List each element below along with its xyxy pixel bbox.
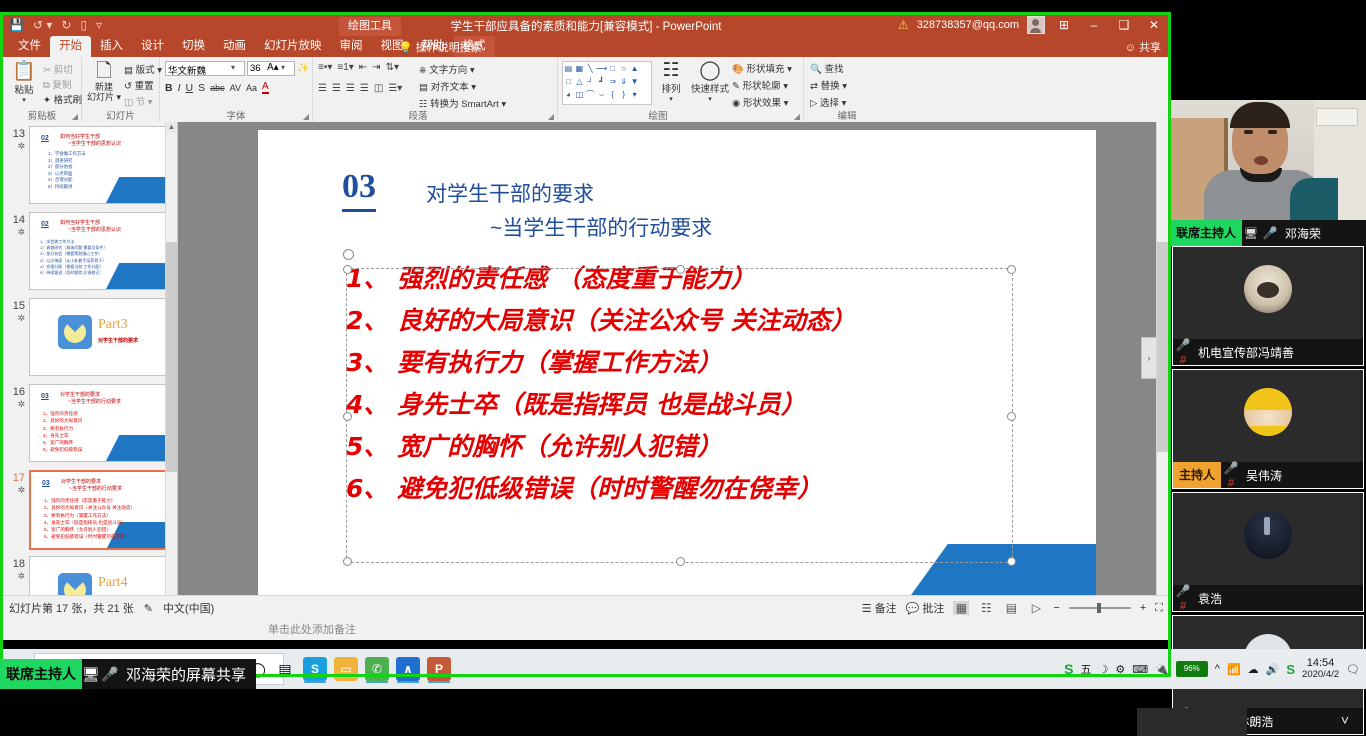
thumb-part-subtitle: 对学生干部的要求 xyxy=(98,337,138,344)
tab-animations[interactable]: 动画 xyxy=(214,36,255,57)
powerpoint-icon[interactable]: P xyxy=(424,655,454,683)
thumb-title-2: ~当学生干部的思想认识 xyxy=(68,226,121,233)
overlay-text: 邓海荣的屏幕共享 xyxy=(120,664,256,685)
thumbnail-number: 15✲ xyxy=(3,298,29,376)
shape-brace-right-icon[interactable]: } xyxy=(622,90,625,99)
align-right-button[interactable]: ☰ xyxy=(346,83,355,94)
mic-icon: 🎤 xyxy=(100,666,120,683)
slide-heading-number: 03 xyxy=(342,168,376,212)
group-slides: 🗋 新建幻灯片 ▾ ▤ 版式 ▾ ↺ 重置 ◫ 节 ▾ 幻灯片 xyxy=(82,57,160,122)
thumbnail-number: 14✲ xyxy=(3,212,29,290)
increase-font-size-button[interactable]: A▴ xyxy=(267,62,279,73)
tab-home[interactable]: 开始 xyxy=(50,36,91,57)
title-bar-right: ⚠ 328738357@qq.com ⊞ – ❑ ✕ xyxy=(898,16,1165,34)
shapes-scroll-down-icon[interactable]: ▼ xyxy=(631,77,639,86)
decor-corner xyxy=(106,263,166,289)
shape-outline-button[interactable]: ✎ 形状轮廓 ▾ xyxy=(732,78,788,92)
decrease-indent-button[interactable]: ⇤ xyxy=(359,62,367,73)
thumb-part-label: Part4 xyxy=(98,575,128,591)
shape-triangle-icon[interactable]: △ xyxy=(576,77,582,86)
group-title-editing: 编辑 xyxy=(804,108,890,122)
slide-editor-pane: 03 对学生干部的要求 ~当学生干部的行动要求 1、 强烈的责任感 （态度重于能… xyxy=(178,122,1169,618)
underline-button[interactable]: U xyxy=(186,82,194,94)
group-title-font: 字体 xyxy=(160,108,312,122)
copy-button[interactable]: ⧉ 复制 xyxy=(43,77,71,91)
clear-formatting-icon[interactable]: ✨ xyxy=(297,63,309,74)
justify-button[interactable]: ☰ xyxy=(360,83,369,94)
thumbnail-slide-canvas[interactable]: 02 如何当好学生干部 ~当学生干部的思想认识 1、学会做工作方法1）调查研究 … xyxy=(29,126,167,204)
spell-check-icon[interactable]: ✎ xyxy=(144,602,153,615)
status-bar: 幻灯片第 17 张，共 21 张 ✎ 中文(中国) ☰ 备注 💬 批注 ▦ ☷ … xyxy=(3,595,1169,618)
chevron-down-icon[interactable]: ▾ xyxy=(7,96,41,104)
participant-video-feed xyxy=(1173,493,1363,585)
decor-corner xyxy=(106,435,166,461)
thumb-title-1: 对学生干部的要求 xyxy=(60,391,100,398)
thumb-heading-num: 03 xyxy=(41,393,49,400)
thumb-heading-num: 03 xyxy=(42,480,50,487)
tray-expand-icon[interactable]: ^ xyxy=(1215,663,1220,675)
system-tray: S 五 ☽ ⚙ ⌨ 🔌 96% ^ 📶 ☁ 🔊 S 14:54 2020/4/2… xyxy=(1064,649,1360,689)
slide-title-line2: ~当学生干部的行动要求 xyxy=(490,212,712,242)
share-person-icon: ☺ xyxy=(1125,42,1136,54)
participant-label-row: 🎤⧥ 袁浩 xyxy=(1173,585,1363,611)
shape-arrow-icon[interactable]: ⟶ xyxy=(596,64,607,73)
align-left-button[interactable]: ☰ xyxy=(318,83,327,94)
wifi-icon[interactable]: ☁ xyxy=(1248,663,1259,676)
pie-logo-icon xyxy=(58,315,92,349)
paste-label: 粘贴 xyxy=(14,85,33,96)
zoom-slider-knob[interactable] xyxy=(1097,603,1101,613)
close-button[interactable]: ✕ xyxy=(1143,18,1165,32)
mic-muted-icon[interactable]: 🎤⧥ xyxy=(1173,584,1193,613)
new-slide-icon: 🗋 xyxy=(86,61,122,82)
quick-styles-button[interactable]: ◯ 快速样式▾ xyxy=(690,60,730,103)
shape-rightarrow-icon[interactable]: ⇒ xyxy=(609,77,616,86)
shape-fill-button[interactable]: 🎨 形状填充 ▾ xyxy=(732,61,792,75)
scroll-up-arrow-icon[interactable]: ▲ xyxy=(166,122,177,133)
ribbon-tab-bar: 文件 开始 插入 设计 切换 动画 幻灯片放映 审阅 视图 帮助 格式 💡 操作… xyxy=(3,36,1169,57)
task-view-icon[interactable]: ▤ xyxy=(272,657,298,681)
slideshow-icon[interactable]: ▷ xyxy=(1028,601,1044,615)
slide-body-line: 6、 避免犯低级错误（时时警醒勿在侥幸） xyxy=(346,468,1018,510)
active-indicator xyxy=(366,681,388,683)
strikethrough-button[interactable]: abc xyxy=(210,83,225,93)
tab-file[interactable]: 文件 xyxy=(9,36,50,57)
font-name-value: 华文新魏 xyxy=(168,66,206,77)
shadow-button[interactable]: S xyxy=(198,82,205,94)
share-screen-icon: 🖥 xyxy=(82,666,100,683)
chevron-down-icon[interactable]: ˅ xyxy=(1341,712,1349,728)
thumbnail-slide-canvas-selected[interactable]: 03 对学生干部的要求 ~当学生干部的行动要求 1、强烈的责任感（态度重于能力）… xyxy=(29,470,169,550)
work-area: 13✲ 02 如何当好学生干部 ~当学生干部的思想认识 1、学会做工作方法1）调… xyxy=(3,122,1169,618)
numbering-button[interactable]: ≡1▾ xyxy=(337,62,353,73)
clipboard-icon: 📋 xyxy=(7,61,41,82)
avatar[interactable] xyxy=(1027,16,1045,34)
overlay-role-badge: 联席主持人 xyxy=(0,659,82,689)
arrange-button[interactable]: ☷ 排列▾ xyxy=(654,60,688,103)
clock[interactable]: 14:54 2020/4/2 xyxy=(1302,657,1339,681)
slide-body-line: 5、 宽广的胸怀（允许别人犯错） xyxy=(346,426,1018,468)
thumbnail-16[interactable]: 16✲ 03 对学生干部的要求 ~当学生干部的行动要求 1、强烈的责任感2、良好… xyxy=(3,384,177,462)
shape-square-icon[interactable]: □ xyxy=(566,77,571,86)
replace-button[interactable]: ⇄ 替换 ▾ xyxy=(810,78,847,92)
italic-button[interactable]: I xyxy=(178,82,181,94)
quick-styles-icon: ◯ xyxy=(690,60,730,81)
sogou-browser-icon[interactable]: S xyxy=(300,655,330,683)
active-indicator xyxy=(304,681,326,683)
shape-effects-button[interactable]: ◉ 形状效果 ▾ xyxy=(732,95,788,109)
participant-label-row: 🎤⧥ 机电宣传部冯靖善 xyxy=(1173,339,1363,365)
participant-name: 吴伟涛 xyxy=(1241,467,1282,484)
avatar xyxy=(1244,265,1292,313)
change-case-button[interactable]: Aa xyxy=(246,83,257,93)
font-name-chevron-icon[interactable]: ▾ xyxy=(231,63,235,72)
thumb-title-2: ~当学生干部的思想认识 xyxy=(68,140,121,147)
zoom-in-button[interactable]: + xyxy=(1140,602,1146,614)
participant-label-row: 主持人 🎤⧥ 吴伟涛 xyxy=(1173,462,1363,488)
shapes-scroll-up-icon[interactable]: ▲ xyxy=(631,64,639,73)
battery-indicator[interactable]: 96% xyxy=(1176,661,1208,677)
notification-icon[interactable]: 🗨 xyxy=(1346,663,1360,676)
thumb-heading-num: 02 xyxy=(41,221,49,228)
shape-pie-icon[interactable]: ◕ xyxy=(566,90,571,99)
tell-me-label: 操作说明搜索 xyxy=(416,39,482,55)
shape-frame-icon[interactable]: ▦ xyxy=(576,64,584,73)
clipboard-dialog-launcher[interactable]: ◢ xyxy=(72,112,78,121)
new-slide-button[interactable]: 🗋 新建幻灯片 ▾ xyxy=(86,61,122,102)
group-drawing: ▤ ▦ ╲ ⟶ □ ○ ▲ □ △ ┘ ┛ ⇒ ⇓ ▼ ◕ xyxy=(558,57,804,122)
tab-slideshow[interactable]: 幻灯片放映 xyxy=(255,36,331,57)
sogou-ime-icon[interactable]: S xyxy=(1064,661,1073,677)
share-label: 共享 xyxy=(1139,42,1161,54)
warning-icon: ⚠ xyxy=(898,18,909,32)
shape-textbox-icon[interactable]: ▤ xyxy=(565,64,573,73)
zoom-out-button[interactable]: − xyxy=(1053,602,1059,614)
tab-design[interactable]: 设计 xyxy=(132,36,173,57)
sogou-tray-icon[interactable]: S xyxy=(1286,662,1295,677)
shape-downarrow-icon[interactable]: ⇓ xyxy=(620,77,627,86)
slide-body-line: 3、 要有执行力（掌握工作方法） xyxy=(346,342,1018,384)
paste-button[interactable]: 📋 粘贴 ▾ xyxy=(7,61,41,104)
font-size-value: 36 xyxy=(250,63,261,74)
shape-cylinder-icon[interactable]: ◫ xyxy=(576,90,584,99)
shape-oval-icon[interactable]: ○ xyxy=(621,64,626,73)
thumbnail-15[interactable]: 15✲ Part3 对学生干部的要求 xyxy=(3,298,177,376)
thumb-body: 1、学会做工作方法1）调查研究（具体问题 需要及条件） 2）部分协会（需要策划细… xyxy=(40,239,107,276)
shape-corner-icon[interactable]: ┘ xyxy=(587,77,593,86)
notes-button[interactable]: ☰ 备注 xyxy=(862,600,897,616)
shape-line-icon[interactable]: ╲ xyxy=(588,64,593,73)
ribbon-body: 📋 粘贴 ▾ ✂ 剪切 ⧉ 复制 ✦ 格式刷 剪贴板 ◢ 🗋 新建幻灯片 ▾ ▤… xyxy=(3,57,1169,123)
network-icon[interactable]: 📶 xyxy=(1227,663,1241,676)
file-explorer-icon[interactable]: ▭ xyxy=(331,655,361,683)
align-center-button[interactable]: ☰ xyxy=(332,83,341,94)
tooltip-popup xyxy=(1137,708,1247,736)
avatar xyxy=(1244,511,1292,559)
screen-share-icon: 🖥 xyxy=(1242,227,1260,240)
tell-me-search[interactable]: 💡 操作说明搜索 xyxy=(399,39,482,55)
character-spacing-button[interactable]: AV xyxy=(230,83,241,93)
thumbnail-slide-canvas[interactable]: 03 对学生干部的要求 ~当学生干部的行动要求 1、强烈的责任感2、良好的大局意… xyxy=(29,384,167,462)
zoom-slider[interactable] xyxy=(1069,607,1131,609)
ime-mode-indicator[interactable]: 五 xyxy=(1080,661,1091,677)
participant-video-feed xyxy=(1173,247,1363,339)
moon-icon[interactable]: ☽ xyxy=(1098,663,1108,676)
tencent-meeting-icon[interactable]: ∧ xyxy=(393,655,423,683)
avatar xyxy=(1244,388,1292,436)
tab-review[interactable]: 审阅 xyxy=(331,36,372,57)
active-indicator xyxy=(397,681,419,683)
account-email[interactable]: 328738357@qq.com xyxy=(917,19,1019,31)
participant-name: 袁浩 xyxy=(1193,590,1222,607)
find-button[interactable]: 🔍 查找 xyxy=(810,61,843,75)
text-columns-button[interactable]: ☰▾ xyxy=(388,83,402,94)
format-painter-button[interactable]: ✦ 格式刷 xyxy=(43,92,82,106)
paragraph-dialog-launcher[interactable]: ◢ xyxy=(548,112,554,121)
volume-icon[interactable]: 🔊 xyxy=(1266,663,1280,676)
participant-name: 邓海荣 xyxy=(1280,225,1321,242)
thumb-title-1: 如何当好学生干部 xyxy=(60,133,100,140)
reading-view-icon[interactable]: ▤ xyxy=(1003,601,1019,615)
mic-muted-icon[interactable]: 🎤⧥ xyxy=(1173,338,1193,367)
participant-tile-3[interactable]: 🎤⧥ 袁浩 xyxy=(1172,492,1364,612)
shape-brace-left-icon[interactable]: { xyxy=(611,90,614,99)
comments-button[interactable]: 💬 批注 xyxy=(906,600,945,616)
powerpoint-window: 💾 ↺ ▾ ↻ ▯ ▿ 绘图工具 学生干部应具备的素质和能力[兼容模式] - P… xyxy=(3,14,1169,640)
thumbnail-number: 16✲ xyxy=(3,384,29,462)
thumbnail-scrollbar[interactable]: ▲ ▼ xyxy=(165,122,177,618)
participant-name: 机电宣传部冯靖善 xyxy=(1193,344,1294,361)
section-button[interactable]: ◫ 节 ▾ xyxy=(124,94,153,108)
thumb-heading-num: 02 xyxy=(41,135,49,142)
ribbon-display-options-icon[interactable]: ⊞ xyxy=(1053,18,1075,32)
participant-video-feed xyxy=(1173,370,1363,462)
slide-body-line: 1、 强烈的责任感 （态度重于能力） xyxy=(346,258,1018,300)
group-title-clipboard: 剪贴板 xyxy=(3,108,81,122)
keyboard-icon[interactable]: ⌨ xyxy=(1132,663,1148,676)
scrollbar-thumb[interactable] xyxy=(1157,242,1169,452)
bullets-button[interactable]: ≡•▾ xyxy=(318,62,332,73)
select-button[interactable]: ▷ 选择 ▾ xyxy=(810,95,846,109)
role-badge: 联席主持人 xyxy=(1170,220,1242,246)
participant-tile-1[interactable]: 🎤⧥ 机电宣传部冯靖善 xyxy=(1172,246,1364,366)
notes-placeholder: 单击此处添加备注 xyxy=(268,621,356,637)
font-color-button[interactable]: A xyxy=(262,81,269,94)
slide-thumbnail-pane[interactable]: 13✲ 02 如何当好学生干部 ~当学生干部的思想认识 1、学会做工作方法1）调… xyxy=(3,122,178,618)
thumbnail-17[interactable]: 17✲ 03 对学生干部的要求 ~当学生干部的行动要求 1、强烈的责任感（态度重… xyxy=(3,470,177,550)
bold-button[interactable]: B xyxy=(165,82,173,94)
language-indicator[interactable]: 中文(中国) xyxy=(163,600,214,616)
canvas-scrollbar[interactable] xyxy=(1156,122,1169,618)
line-spacing-button[interactable]: ⇅▾ xyxy=(386,62,399,73)
shapes-more-icon[interactable]: ▾ xyxy=(633,90,637,99)
slide-body-line: 2、 良好的大局意识（关注公众号 关注动态） xyxy=(346,300,1018,342)
cut-button[interactable]: ✂ 剪切 xyxy=(43,62,73,76)
align-text-button[interactable]: ▤ 对齐文本 ▾ xyxy=(419,79,476,93)
thumbnail-13[interactable]: 13✲ 02 如何当好学生干部 ~当学生干部的思想认识 1、学会做工作方法1）调… xyxy=(3,126,177,204)
tab-transitions[interactable]: 切换 xyxy=(173,36,214,57)
group-title-slides: 幻灯片 xyxy=(82,108,159,122)
layout-button[interactable]: ▤ 版式 ▾ xyxy=(124,62,162,76)
group-clipboard: 📋 粘贴 ▾ ✂ 剪切 ⧉ 复制 ✦ 格式刷 剪贴板 ◢ xyxy=(3,57,82,122)
font-dialog-launcher[interactable]: ◢ xyxy=(303,112,309,121)
wechat-icon[interactable]: ✆ xyxy=(362,655,392,683)
thumbnail-14[interactable]: 14✲ 02 如何当好学生干部 ~当学生干部的思想认识 1、学会做工作方法1）调… xyxy=(3,212,177,290)
role-badge: 主持人 xyxy=(1173,462,1221,488)
shapes-gallery[interactable]: ▤ ▦ ╲ ⟶ □ ○ ▲ □ △ ┘ ┛ ⇒ ⇓ ▼ ◕ xyxy=(562,61,652,105)
share-button[interactable]: ☺ 共享 xyxy=(1125,39,1161,55)
participant-label-row: 联席主持人 🖥 🎤 邓海荣 xyxy=(1170,220,1366,246)
normal-view-icon[interactable]: ▦ xyxy=(953,601,969,615)
participant-label-row: 🎤⧥ 纪检部 林朗浩 ˅ xyxy=(1173,708,1363,734)
ime-settings-icon[interactable]: ⚙ xyxy=(1115,663,1125,676)
participant-video-feed xyxy=(1170,100,1366,220)
text-direction-button[interactable]: ⎈ 文字方向 ▾ xyxy=(419,62,475,76)
thumb-title-1: 对学生干部的要求 xyxy=(61,478,101,485)
shape-arc-icon[interactable]: ⌣ xyxy=(599,90,604,100)
mic-muted-icon[interactable]: 🎤⧥ xyxy=(1221,461,1241,490)
slide-body-line: 4、 身先士卒（既是指挥员 也是战斗员） xyxy=(346,384,1018,426)
arrange-icon: ☷ xyxy=(654,60,688,81)
title-bar: 💾 ↺ ▾ ↻ ▯ ▿ 绘图工具 学生干部应具备的素质和能力[兼容模式] - P… xyxy=(3,14,1169,36)
drawing-dialog-launcher[interactable]: ◢ xyxy=(794,112,800,121)
thumbnail-number: 17✲ xyxy=(3,470,29,550)
slide-sorter-icon[interactable]: ☷ xyxy=(978,601,994,615)
group-title-drawing: 绘图 xyxy=(558,108,758,122)
pane-expand-button[interactable]: › xyxy=(1141,337,1157,379)
slide-body-textbox[interactable]: 1、 强烈的责任感 （态度重于能力） 2、 良好的大局意识（关注公众号 关注动态… xyxy=(346,258,1018,510)
shape-elbow-icon[interactable]: ┛ xyxy=(599,77,604,86)
mic-icon[interactable]: 🎤 xyxy=(1260,226,1280,240)
group-editing: 🔍 查找 ⇄ 替换 ▾ ▷ 选择 ▾ 编辑 xyxy=(804,57,890,122)
active-indicator xyxy=(428,681,450,683)
decor-corner xyxy=(906,544,1096,602)
thumb-body: 1、强烈的责任感2、良好的大局意识 3、要有执行力4、身先士卒 5、宽广的胸怀6… xyxy=(43,410,82,454)
slide-counter: 幻灯片第 17 张，共 21 张 xyxy=(9,600,134,616)
resize-handle-bc[interactable] xyxy=(676,557,685,566)
thumb-part-label: Part3 xyxy=(98,317,128,333)
fit-to-window-icon[interactable]: ⛶ xyxy=(1155,602,1163,615)
thumbnail-slide-canvas[interactable]: 02 如何当好学生干部 ~当学生干部的思想认识 1、学会做工作方法1）调查研究（… xyxy=(29,212,167,290)
thumb-title-2: ~当学生干部的行动要求 xyxy=(69,485,122,492)
resize-handle-bl[interactable] xyxy=(343,557,352,566)
thumb-title-2: ~当学生干部的行动要求 xyxy=(68,398,121,405)
slide-canvas[interactable]: 03 对学生干部的要求 ~当学生干部的行动要求 1、 强烈的责任感 （态度重于能… xyxy=(258,130,1096,602)
columns-button[interactable]: ◫ xyxy=(374,83,383,94)
participant-tile-2[interactable]: 主持人 🎤⧥ 吴伟涛 xyxy=(1172,369,1364,489)
decor-corner xyxy=(106,177,166,203)
thumbnail-number: 13✲ xyxy=(3,126,29,204)
restore-button[interactable]: ❑ xyxy=(1113,18,1135,32)
slide-title-line1: 对学生干部的要求 xyxy=(426,178,594,208)
clock-date: 2020/4/2 xyxy=(1302,669,1339,681)
font-size-chevron-icon[interactable]: ▾ xyxy=(281,63,285,72)
participant-tile-0[interactable]: 联席主持人 🖥 🎤 邓海荣 xyxy=(1170,100,1366,246)
group-paragraph: ≡•▾ ≡1▾ ⇤ ⇥ ⇅▾ ☰ ☰ ☰ ☰ ◫ ☰▾ ⎈ 文字方向 ▾ ▤ 对… xyxy=(313,57,558,122)
group-title-paragraph: 段落 xyxy=(313,108,523,122)
shape-rect-icon[interactable]: □ xyxy=(610,64,615,73)
shape-curve-icon[interactable]: ⌒ xyxy=(586,89,594,100)
scrollbar-thumb[interactable] xyxy=(166,242,177,472)
clock-time: 14:54 xyxy=(1307,657,1335,669)
video-participant-panel: 联席主持人 🖥 🎤 邓海荣 🎤⧥ 机电宣传部冯靖善 主持人 🎤⧥ 吴伟涛 xyxy=(1170,0,1366,665)
screen-root: 💾 ↺ ▾ ↻ ▯ ▿ 绘图工具 学生干部应具备的素质和能力[兼容模式] - P… xyxy=(0,0,1366,689)
lightbulb-icon: 💡 xyxy=(399,41,413,54)
minimize-button[interactable]: – xyxy=(1083,18,1105,32)
thumb-body: 1、学会做工作方法1）调查研究 2）部分协会3）以点带面 4）合理分配5）持续跟… xyxy=(48,151,86,190)
screen-share-overlay: 联席主持人 🖥 🎤 邓海荣的屏幕共享 xyxy=(0,659,256,689)
increase-indent-button[interactable]: ⇥ xyxy=(372,62,380,73)
group-font: 华文新魏 ▾ 36 ▾ B I U S abc AV Aa xyxy=(160,57,313,122)
thumbnail-slide-canvas[interactable]: Part3 对学生干部的要求 xyxy=(29,298,167,376)
thumb-body: 1、强烈的责任感（态度重于能力）2、良好的大局意识（关注公众号 关注动态） 3、… xyxy=(44,497,135,541)
tab-insert[interactable]: 插入 xyxy=(91,36,132,57)
thumb-title-1: 如何当好学生干部 xyxy=(60,219,100,226)
reset-button[interactable]: ↺ 重置 xyxy=(124,78,154,92)
power-plug-icon[interactable]: 🔌 xyxy=(1155,663,1169,676)
